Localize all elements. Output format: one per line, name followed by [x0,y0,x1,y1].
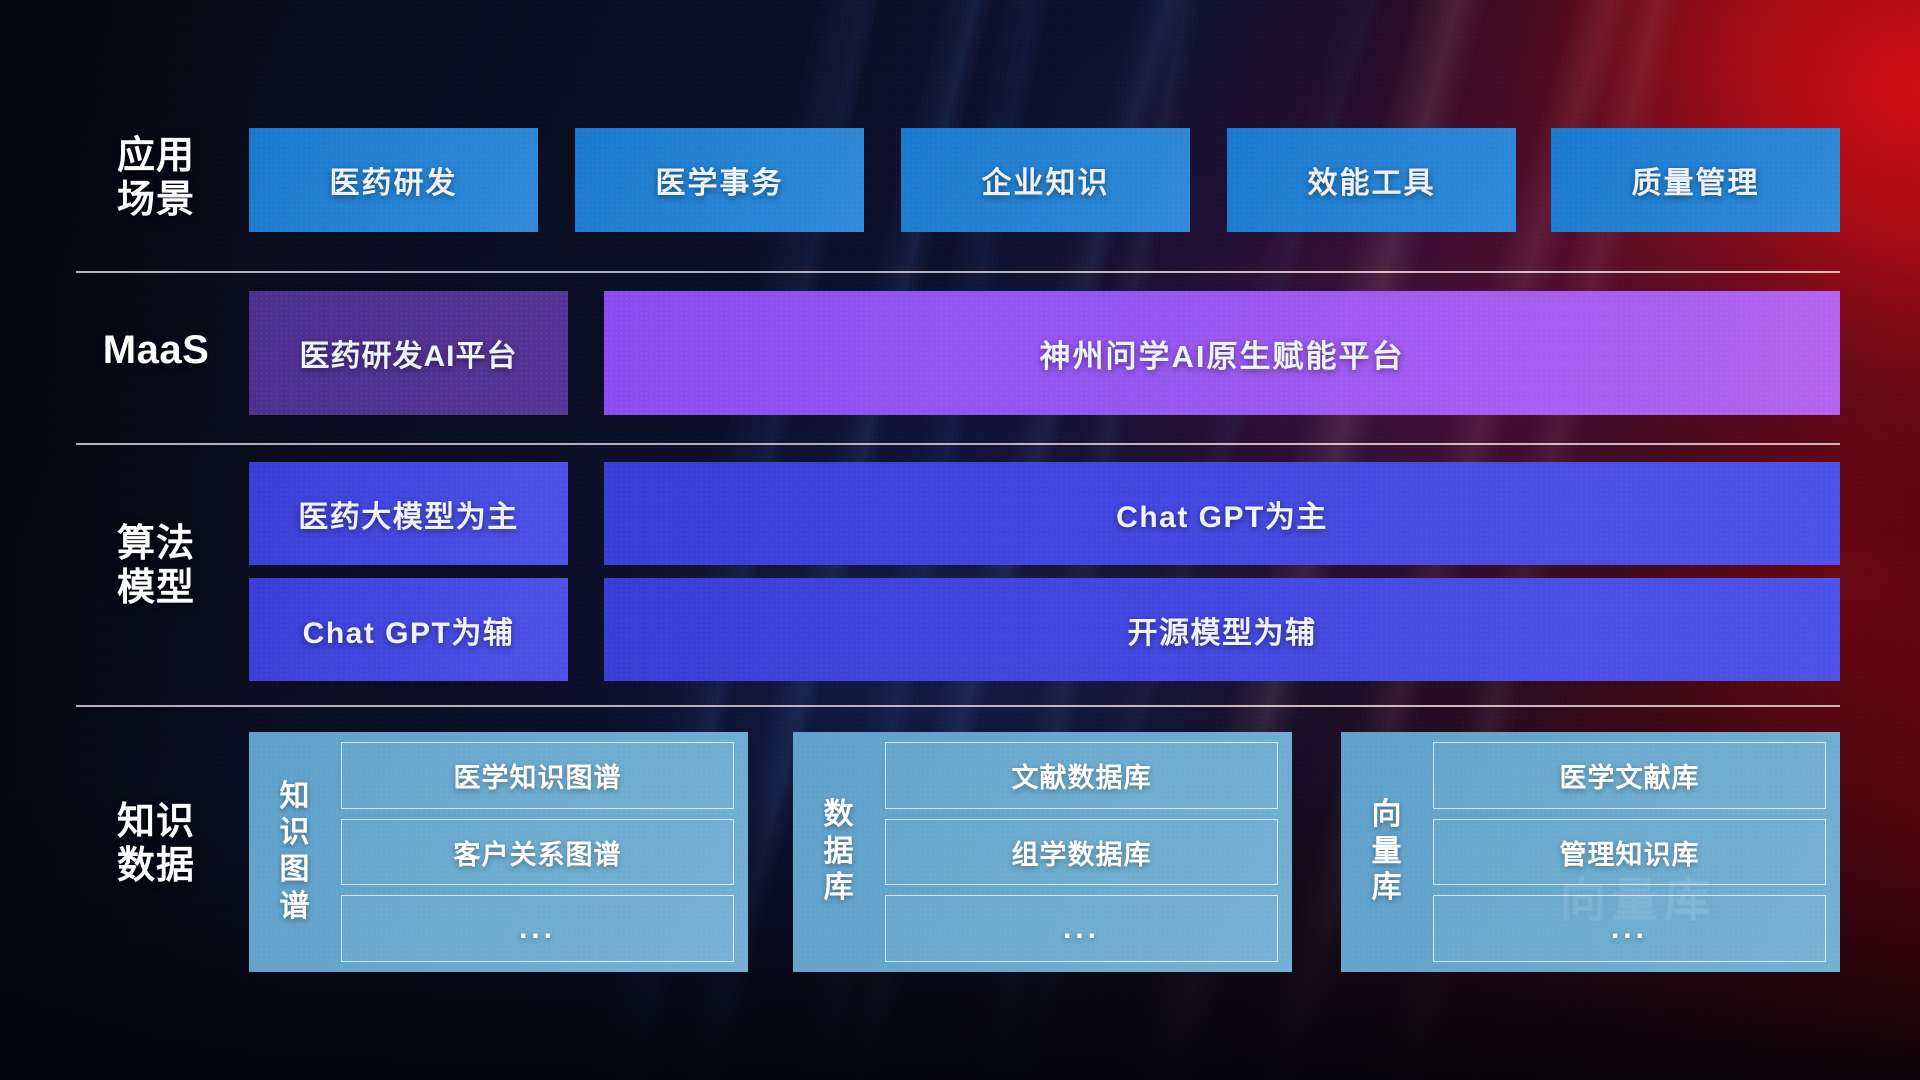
knowledge-item-medical-graph[interactable]: 医学知识图谱 [341,742,734,809]
row-maas: MaaS 医药研发AI平台 神州问学AI原生赋能平台 [0,291,1920,415]
separator-line-2 [76,443,1840,445]
knowledge-panel-database-label: 数 据 库 [793,797,885,907]
algo-card-drug-large-model-primary[interactable]: 医药大模型为主 [249,462,568,565]
scenario-card-efficiency-tools[interactable]: 效能工具 [1227,128,1516,232]
knowledge-item-customer-relation-graph[interactable]: 客户关系图谱 [341,819,734,886]
knowledge-panel-graph-items: 医学知识图谱 客户关系图谱 ... [341,742,734,962]
scenario-card-medical-affairs[interactable]: 医学事务 [575,128,864,232]
row-label-knowledge-data: 知识 数据 [76,800,236,888]
knowledge-panel-vector-store[interactable]: 向 量 库 医学文献库 管理知识库 ... [1341,732,1840,972]
algo-card-chatgpt-secondary[interactable]: Chat GPT为辅 [249,578,568,681]
scenario-card-enterprise-knowledge[interactable]: 企业知识 [901,128,1190,232]
maas-card-drug-rd-ai-platform[interactable]: 医药研发AI平台 [249,291,568,415]
knowledge-panel-vector-store-label: 向 量 库 [1341,797,1433,907]
separator-line-1 [76,271,1840,273]
knowledge-item-vector-store-more[interactable]: ... [1433,895,1826,962]
row-knowledge-data: 知识 数据 知 识 图 谱 医学知识图谱 客户关系图谱 ... 数 据 库 文献… [0,732,1920,972]
row-label-maas: MaaS [76,327,236,373]
knowledge-item-medical-literature-store[interactable]: 医学文献库 [1433,742,1826,809]
knowledge-item-database-more[interactable]: ... [885,895,1278,962]
knowledge-item-graph-more[interactable]: ... [341,895,734,962]
knowledge-item-literature-database[interactable]: 文献数据库 [885,742,1278,809]
scenario-card-drug-rd[interactable]: 医药研发 [249,128,538,232]
row-label-algorithm-models: 算法 模型 [76,522,236,610]
knowledge-panel-database[interactable]: 数 据 库 文献数据库 组学数据库 ... [793,732,1292,972]
knowledge-item-management-knowledge-store[interactable]: 管理知识库 [1433,819,1826,886]
scenario-card-quality-management[interactable]: 质量管理 [1551,128,1840,232]
row-algorithm-models: 算法 模型 医药大模型为主 Chat GPT为辅 Chat GPT为主 开源模型… [0,462,1920,681]
knowledge-item-omics-database[interactable]: 组学数据库 [885,819,1278,886]
row-application-scenarios: 应用 场景 医药研发 医学事务 企业知识 效能工具 质量管理 [0,128,1920,232]
row-label-application-scenarios: 应用 场景 [76,134,236,222]
separator-line-3 [76,705,1840,707]
knowledge-panel-graph[interactable]: 知 识 图 谱 医学知识图谱 客户关系图谱 ... [249,732,748,972]
knowledge-panel-graph-label: 知 识 图 谱 [249,779,341,925]
algo-card-opensource-model-secondary[interactable]: 开源模型为辅 [604,578,1840,681]
slide-canvas: 应用 场景 医药研发 医学事务 企业知识 效能工具 质量管理 MaaS 医药研发… [0,0,1920,1080]
knowledge-panel-database-items: 文献数据库 组学数据库 ... [885,742,1278,962]
algo-card-chatgpt-primary[interactable]: Chat GPT为主 [604,462,1840,565]
maas-card-shenzhou-wenxue-platform[interactable]: 神州问学AI原生赋能平台 [604,291,1840,415]
knowledge-panel-vector-store-items: 医学文献库 管理知识库 ... [1433,742,1826,962]
